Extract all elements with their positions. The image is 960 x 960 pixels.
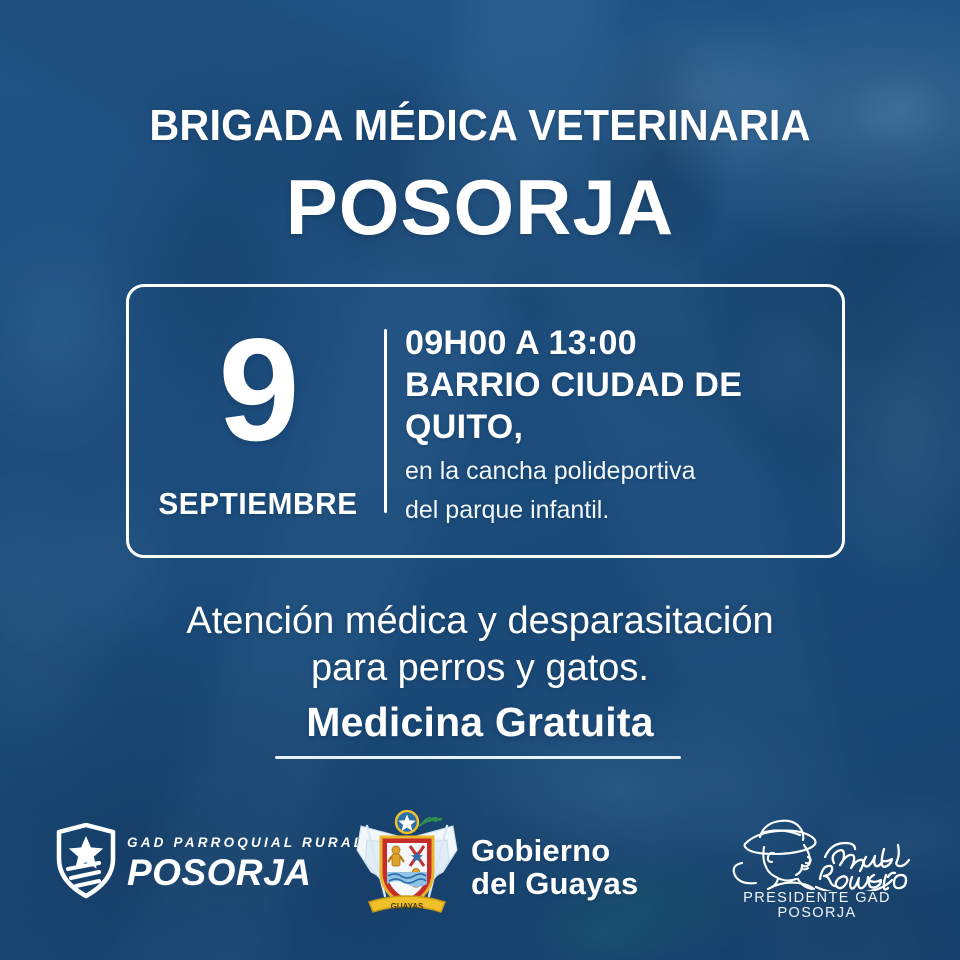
event-day: 9 — [129, 317, 387, 463]
free-medicine-underline — [275, 756, 681, 759]
guayas-text-block: Gobierno del Guayas — [471, 835, 638, 901]
event-location-line2: QUITO, — [405, 407, 828, 449]
guayas-line1: Gobierno — [471, 835, 638, 868]
headline-place: POSORJA — [0, 168, 960, 246]
signature-row — [712, 817, 922, 889]
posorja-name: POSORJA — [127, 854, 365, 891]
event-venue-line1: en la cancha polideportiva — [405, 456, 828, 487]
free-medicine-label: Medicina Gratuita — [306, 702, 653, 743]
event-time: 09H00 A 13:00 — [405, 323, 828, 365]
headline-primary: BRIGADA MÉDICA VETERINARIA — [29, 104, 931, 148]
event-venue-line2: del parque infantil. — [405, 495, 828, 526]
guayas-ribbon-text: GUAYAS — [391, 902, 424, 911]
date-column: 9 SEPTIEMBRE — [129, 287, 387, 555]
free-medicine-wrap: Medicina Gratuita — [0, 702, 960, 743]
posorja-kicker: GAD PARROQUIAL RURAL — [127, 836, 365, 850]
event-month: SEPTIEMBRE — [134, 488, 382, 519]
event-location-line1: BARRIO CIUDAD DE — [405, 365, 828, 407]
posorja-text-block: GAD PARROQUIAL RURAL POSORJA — [127, 836, 365, 891]
shield-star-icon — [55, 823, 117, 904]
logo-gobierno-guayas: GUAYAS Gobierno del Guayas — [355, 810, 638, 925]
detail-column: 09H00 A 13:00 BARRIO CIUDAD DE QUITO, en… — [405, 323, 828, 525]
logo-presidente: PRESIDENTE GAD POSORJA — [712, 817, 922, 920]
poster-canvas: BRIGADA MÉDICA VETERINARIA POSORJA 9 SEP… — [0, 0, 960, 960]
event-info-card: 9 SEPTIEMBRE 09H00 A 13:00 BARRIO CIUDAD… — [126, 284, 845, 558]
service-description-line1: Atención médica y desparasitación — [0, 598, 960, 645]
man-with-hat-line-icon — [712, 817, 922, 896]
footer-logos: GAD PARROQUIAL RURAL POSORJA — [0, 805, 960, 925]
service-description-line2: para perros y gatos. — [0, 645, 960, 692]
logo-gad-posorja: GAD PARROQUIAL RURAL POSORJA — [55, 823, 365, 904]
guayas-line2: del Guayas — [471, 868, 638, 901]
poster-content: BRIGADA MÉDICA VETERINARIA POSORJA 9 SEP… — [0, 0, 960, 960]
guayas-coat-of-arms-icon: GUAYAS — [355, 810, 459, 925]
vertical-divider — [384, 329, 387, 513]
